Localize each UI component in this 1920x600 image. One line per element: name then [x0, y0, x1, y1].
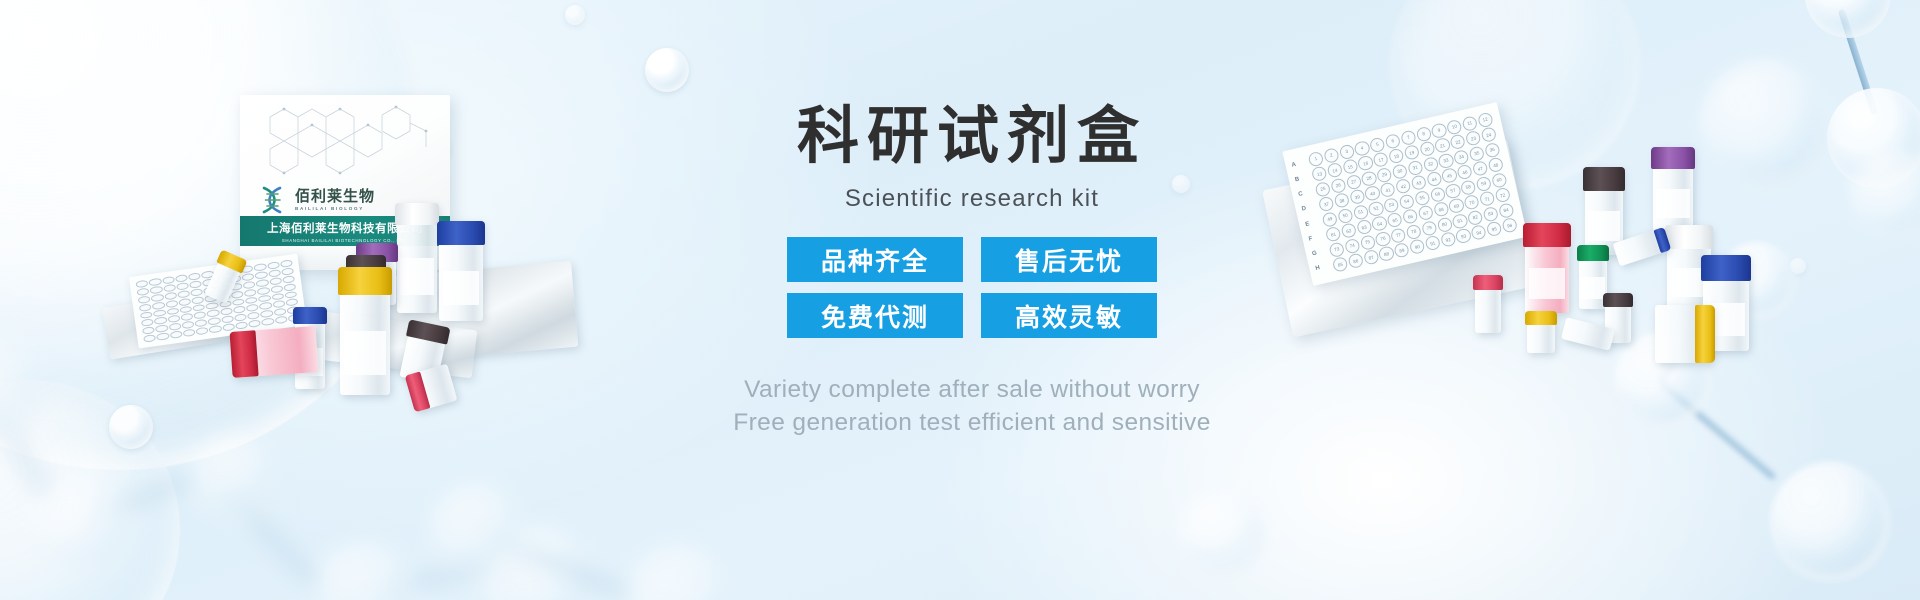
reagent-vial: [439, 221, 483, 321]
water-droplet-icon: [109, 405, 153, 449]
plate-well: 23: [1465, 130, 1482, 147]
banner-text-block: 科研试剂盒 Scientific research kit 品种齐全 售后无忧 …: [560, 104, 1360, 439]
plate-well: 88: [1378, 245, 1395, 262]
feature-badge-variety[interactable]: 品种齐全: [787, 237, 963, 282]
feature-badge-sensitive[interactable]: 高效灵敏: [981, 293, 1157, 338]
plate-well: 84: [1498, 202, 1515, 219]
plate-well: 69: [1448, 197, 1465, 214]
product-photo-left: 佰利莱生物 BAILILAI BIOLOGY 上海佰利莱生物科技有限公司 SHA…: [105, 95, 635, 395]
brand-name-cn: 佰利莱生物: [295, 189, 375, 204]
plate-well: [162, 276, 175, 285]
plate-well: [188, 272, 201, 281]
tagline-block: Variety complete after sale without worr…: [584, 374, 1360, 439]
plate-well: [166, 307, 179, 316]
plate-well: [169, 330, 182, 339]
plate-well: [270, 285, 283, 294]
plate-well: 65: [1386, 212, 1403, 229]
plate-well: [178, 297, 191, 306]
plate-well: 96: [1501, 217, 1518, 234]
plate-well: 87: [1363, 249, 1380, 266]
plate-well: [180, 313, 193, 322]
plate-well: [231, 290, 244, 299]
water-droplet-icon: [565, 5, 585, 25]
plate-well: 81: [1451, 213, 1468, 230]
plate-well: 11: [1461, 115, 1478, 132]
plate-well: [234, 313, 247, 322]
plate-well: [165, 299, 178, 308]
plate-well: 91: [1424, 235, 1441, 252]
plate-well: 47: [1472, 160, 1489, 177]
plate-well: [259, 302, 272, 311]
plate-well: 12: [1477, 112, 1494, 129]
plate-well: [271, 292, 284, 301]
plate-well: 17: [1372, 152, 1389, 169]
plate-well: 57: [1444, 182, 1461, 199]
plate-well: 6: [1384, 133, 1401, 150]
plate-well: 35: [1468, 145, 1485, 162]
plate-well: [242, 273, 255, 282]
plate-well: [177, 290, 190, 299]
plate-well: 34: [1453, 149, 1470, 166]
plate-well: [280, 259, 293, 268]
plate-well: 79: [1421, 220, 1438, 237]
plate-well: [257, 286, 270, 295]
plate-well: [155, 325, 168, 334]
plate-well: [135, 280, 148, 289]
plate-well: [267, 261, 280, 270]
plate-well: [154, 317, 167, 326]
plate-well: 58: [1460, 179, 1477, 196]
plate-well: [254, 263, 267, 272]
plate-well: 67: [1417, 205, 1434, 222]
plate-well: [189, 280, 202, 289]
plate-well: [285, 298, 298, 307]
plate-well: 48: [1487, 157, 1504, 174]
plate-well: [281, 267, 294, 276]
page-subtitle: Scientific research kit: [584, 185, 1360, 213]
plate-well: [195, 319, 208, 328]
plate-well: 10: [1446, 119, 1463, 136]
plate-well: 90: [1409, 238, 1426, 255]
plate-well: [196, 327, 209, 336]
plate-well: 52: [1368, 200, 1385, 217]
hexagon-pattern-icon: [240, 101, 450, 193]
plate-well: 5: [1369, 136, 1386, 153]
plate-well: [235, 321, 248, 330]
plate-well: [137, 287, 150, 296]
plate-well: 55: [1414, 190, 1431, 207]
plate-well: [222, 323, 235, 332]
plate-well: [233, 306, 246, 315]
plate-well: 94: [1470, 224, 1487, 241]
reagent-vial: [1653, 147, 1693, 231]
plate-well: 72: [1494, 187, 1511, 204]
plate-well: [193, 311, 206, 320]
plate-well: 77: [1390, 227, 1407, 244]
plate-well: [255, 271, 268, 280]
plate-well: 75: [1359, 234, 1376, 251]
brand-name-en: BAILILAI BIOLOGY: [295, 207, 375, 212]
plate-well: [190, 288, 203, 297]
plate-well: [269, 277, 282, 286]
plate-well: 68: [1433, 201, 1450, 218]
plate-well: 24: [1480, 127, 1497, 144]
page-title: 科研试剂盒: [584, 104, 1360, 169]
plate-well: 45: [1441, 167, 1458, 184]
plate-well: [209, 325, 222, 334]
plate-well: [141, 319, 154, 328]
company-name-en: SHANGHAI BAILILAI BIOTECHNOLOGY CO., LTD…: [282, 238, 408, 243]
plate-well: [168, 323, 181, 332]
plate-well: 32: [1422, 156, 1439, 173]
plate-well: [140, 311, 153, 320]
plate-well: 54: [1398, 193, 1415, 210]
plate-well: 92: [1439, 231, 1456, 248]
plate-well: [182, 329, 195, 338]
plate-well: [260, 310, 273, 319]
plate-well: 19: [1403, 144, 1420, 161]
plate-well: 9: [1431, 122, 1448, 139]
plate-well: 46: [1456, 164, 1473, 181]
plate-well: [248, 319, 261, 328]
plate-well: [151, 293, 164, 302]
plate-well: 64: [1371, 215, 1388, 232]
tagline-line-2: Free generation test efficient and sensi…: [584, 407, 1360, 440]
plate-well: [221, 315, 234, 324]
reagent-vial: [1475, 275, 1501, 333]
plate-well: 56: [1429, 186, 1446, 203]
plate-well: [283, 283, 296, 292]
plate-well: 78: [1405, 223, 1422, 240]
plate-well: 40: [1364, 185, 1381, 202]
plate-well: [179, 305, 192, 314]
plate-well: 83: [1482, 205, 1499, 222]
plate-well: [284, 291, 297, 300]
plate-well: [247, 312, 260, 321]
plate-well: [246, 304, 259, 313]
plate-well: [243, 280, 256, 289]
feature-badge-list: 品种齐全 售后无忧 免费代测 高效灵敏: [584, 237, 1360, 338]
plate-well: [220, 308, 233, 317]
plate-well: 95: [1486, 220, 1503, 237]
dna-helix-icon: [258, 185, 288, 215]
plate-well: [138, 295, 151, 304]
plate-well: [232, 298, 245, 307]
plate-well: 30: [1391, 163, 1408, 180]
plate-well: [176, 282, 189, 291]
plate-well: [256, 279, 269, 288]
plate-well: 41: [1379, 182, 1396, 199]
plate-well: [181, 321, 194, 330]
water-droplet-icon: [645, 48, 689, 92]
plate-well: 76: [1374, 230, 1391, 247]
plate-well: [268, 269, 281, 278]
plate-well: [139, 303, 152, 312]
feature-badge-aftersale[interactable]: 售后无忧: [981, 237, 1157, 282]
reagent-vial: [340, 267, 390, 395]
plate-well: 66: [1402, 208, 1419, 225]
plate-well: 42: [1395, 178, 1412, 195]
plate-well: 53: [1383, 197, 1400, 214]
plate-well: [164, 292, 177, 301]
reagent-vial: [397, 203, 437, 313]
plate-well: [272, 300, 285, 309]
promo-banner: 佰利莱生物 BAILILAI BIOLOGY 上海佰利莱生物科技有限公司 SHA…: [0, 0, 1920, 600]
plate-well: 7: [1400, 129, 1417, 146]
reagent-vial: [1655, 305, 1713, 363]
plate-well: [191, 296, 204, 305]
plate-well: 33: [1438, 152, 1455, 169]
plate-well: [163, 284, 176, 293]
plate-well: 71: [1479, 190, 1496, 207]
reagent-vial: [1527, 311, 1555, 353]
plate-well: [274, 316, 287, 325]
plate-well: [245, 296, 258, 305]
plate-well: 59: [1475, 175, 1492, 192]
plate-well: 20: [1419, 141, 1436, 158]
bubble-icon: [0, 380, 180, 600]
plate-well: [282, 275, 295, 284]
plate-well: [167, 315, 180, 324]
feature-badge-freetest[interactable]: 免费代测: [787, 293, 963, 338]
plate-well: 28: [1361, 170, 1378, 187]
plate-well: 18: [1388, 148, 1405, 165]
plate-well: 93: [1455, 228, 1472, 245]
plate-well: [149, 278, 162, 287]
plate-well: 82: [1467, 209, 1484, 226]
plate-well: [207, 309, 220, 318]
plate-well: 80: [1436, 216, 1453, 233]
plate-well: 21: [1434, 137, 1451, 154]
plate-well: [261, 318, 274, 327]
plate-well: [208, 317, 221, 326]
plate-well: 44: [1426, 171, 1443, 188]
plate-well: 36: [1484, 142, 1501, 159]
plate-well: 70: [1463, 194, 1480, 211]
plate-well: 60: [1491, 172, 1508, 189]
reagent-vial: [1525, 223, 1569, 313]
plate-well: 31: [1407, 159, 1424, 176]
plate-well: [175, 274, 188, 283]
plate-well: 43: [1410, 175, 1427, 192]
plate-well: [143, 334, 156, 343]
plate-well: 29: [1376, 167, 1393, 184]
plate-well: [152, 301, 165, 310]
plate-well: [156, 332, 169, 341]
plate-well: [244, 288, 257, 297]
reagent-vial: [230, 326, 319, 378]
plate-well: 8: [1415, 126, 1432, 143]
tagline-line-1: Variety complete after sale without worr…: [584, 374, 1360, 407]
plate-well: [142, 326, 155, 335]
plate-well: [192, 303, 205, 312]
plate-well: 22: [1449, 134, 1466, 151]
plate-well: [150, 286, 163, 295]
plate-well: [273, 308, 286, 317]
plate-well: 89: [1393, 242, 1410, 259]
